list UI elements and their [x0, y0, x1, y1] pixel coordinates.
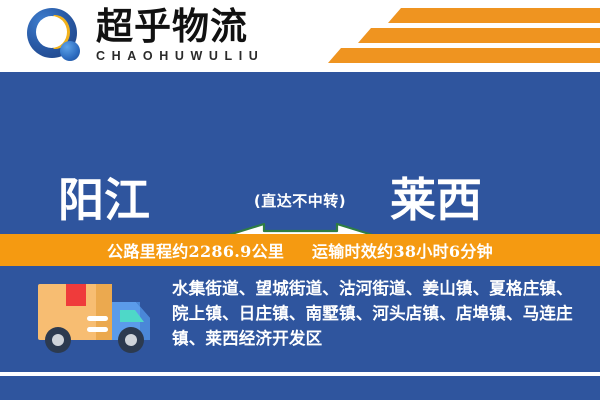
delivery-truck-icon: [36, 278, 160, 360]
stripe-top: [388, 8, 600, 23]
circular-q-logo-icon: [27, 8, 87, 66]
coverage-panel: 水集街道、望城街道、沽河街道、姜山镇、夏格庄镇、院上镇、日庄镇、南墅镇、河头店镇…: [0, 266, 600, 372]
stripe-bottom: [328, 48, 600, 63]
stripe-middle: [358, 28, 600, 43]
orange-speed-stripes-icon: [330, 6, 600, 68]
destination-city: 莱西: [390, 174, 482, 226]
footer-strip: [0, 376, 600, 400]
logistics-route-banner: 超乎物流 CHAOHUWULIU 阳江 (直达不中转) 【往返运输】 莱西 公路…: [0, 0, 600, 400]
route-info-bar: 公路里程约2286.9公里 运输时效约38小时6分钟: [0, 234, 600, 266]
road-distance-value: 公路里程约2286.9公里: [107, 242, 284, 261]
transit-duration-value: 运输时效约38小时6分钟: [312, 242, 493, 261]
direct-transport-note: (直达不中转): [0, 190, 600, 211]
route-info-text: 公路里程约2286.9公里 运输时效约38小时6分钟: [107, 238, 493, 262]
logo-accent-dot: [60, 41, 80, 61]
banner-header: 超乎物流 CHAOHUWULIU: [0, 0, 600, 72]
brand-block: 超乎物流 CHAOHUWULIU: [96, 6, 264, 64]
route-panel: 阳江 (直达不中转) 【往返运输】 莱西: [0, 72, 600, 234]
brand-name-cn: 超乎物流: [96, 6, 264, 48]
brand-name-en: CHAOHUWULIU: [96, 49, 264, 64]
coverage-area-list: 水集街道、望城街道、沽河街道、姜山镇、夏格庄镇、院上镇、日庄镇、南墅镇、河头店镇…: [172, 276, 584, 351]
